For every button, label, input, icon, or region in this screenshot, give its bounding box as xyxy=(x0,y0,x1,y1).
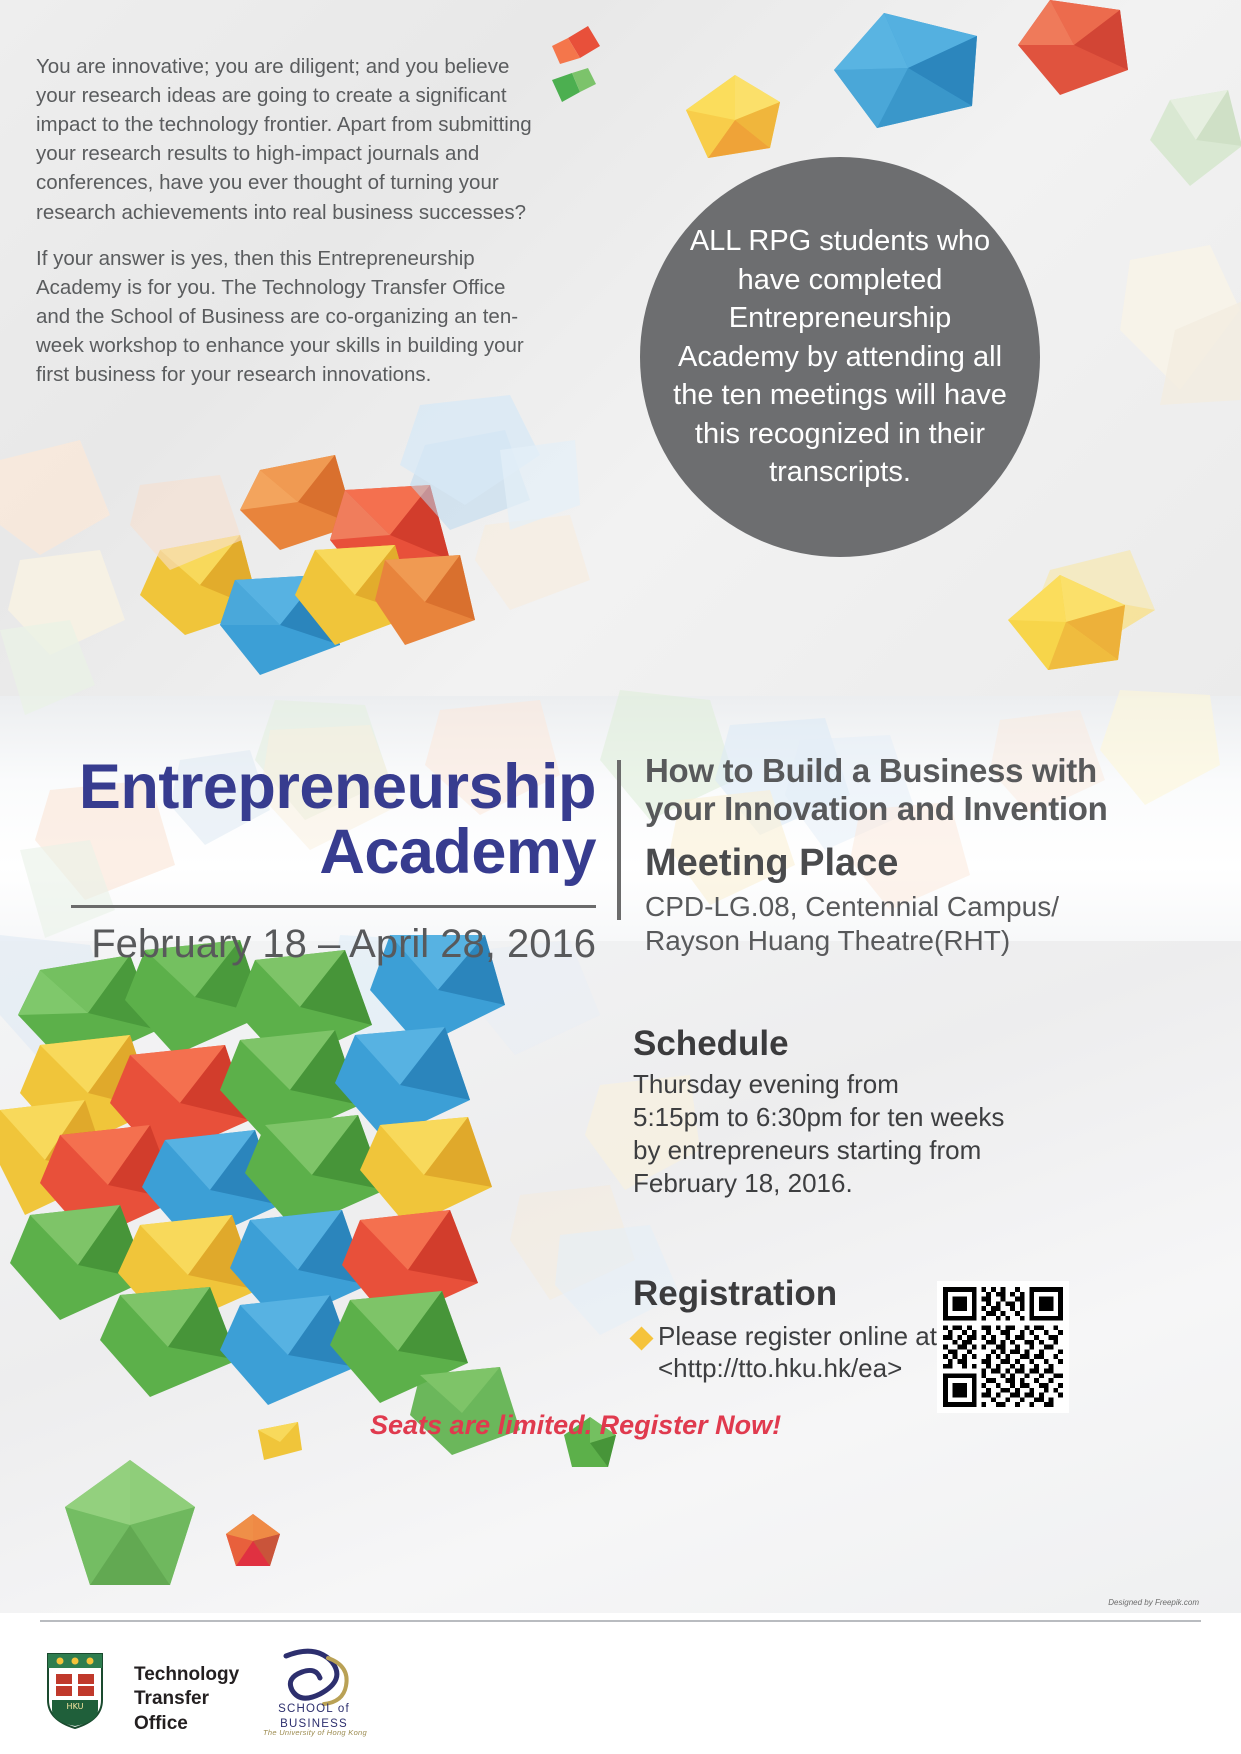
registration-section: Registration Please register online at <… xyxy=(633,1275,943,1385)
decor-polygon-yellow-solid-right xyxy=(1000,570,1130,680)
schedule-line4: February 18, 2016. xyxy=(633,1167,1083,1200)
date-range: February 18 – April 28, 2016 xyxy=(36,922,596,966)
meeting-place-line2: Rayson Huang Theatre(RHT) xyxy=(645,924,1205,958)
schedule-line1: Thursday evening from xyxy=(633,1068,1083,1101)
callout-text: ALL RPG students who have completed Entr… xyxy=(668,222,1013,492)
subtitle-line2: your Innovation and Invention xyxy=(645,790,1205,828)
tto-line2: Transfer xyxy=(134,1687,239,1711)
decor-polygon-cluster-bottom xyxy=(0,935,700,1455)
schedule-section: Schedule Thursday evening from 5:15pm to… xyxy=(633,1025,1083,1200)
schedule-line3: by entrepreneurs starting from xyxy=(633,1134,1083,1167)
diamond-bullet-icon xyxy=(629,1326,653,1350)
decor-polygon-pale-blue-mid xyxy=(380,395,580,535)
rpg-recognition-callout: ALL RPG students who have completed Entr… xyxy=(640,157,1040,557)
meeting-place-line1: CPD-LG.08, Centennial Campus/ xyxy=(645,890,1205,924)
schedule-heading: Schedule xyxy=(633,1025,1083,1064)
intro-paragraph-2: If your answer is yes, then this Entrepr… xyxy=(36,244,536,390)
school-of-business-subline: The University of Hong Kong xyxy=(250,1728,380,1737)
title-divider xyxy=(71,905,596,908)
sob-line1: SCHOOL of xyxy=(258,1702,370,1717)
decor-polygon-green-pentagon-footer xyxy=(60,1455,200,1595)
footer-divider xyxy=(40,1620,1201,1622)
intro-paragraph-1: You are innovative; you are diligent; an… xyxy=(36,52,536,227)
decor-polygon-yellow-small-footer xyxy=(250,1420,305,1465)
tto-line3: Office xyxy=(134,1712,239,1736)
svg-text:HKU: HKU xyxy=(67,1702,84,1711)
meeting-place-heading: Meeting Place xyxy=(645,843,1205,885)
poster-title-line2: Academy xyxy=(36,820,596,885)
event-details-block: How to Build a Business with your Innova… xyxy=(645,752,1205,959)
decor-polygon-red-topright xyxy=(1010,0,1130,120)
intro-copy: You are innovative; you are diligent; an… xyxy=(36,52,536,389)
hku-crest-logo: HKU xyxy=(44,1652,106,1730)
poster: You are innovative; you are diligent; an… xyxy=(0,0,1241,1754)
decor-polygon-pale-left xyxy=(0,430,200,720)
qr-code-icon xyxy=(943,1287,1063,1407)
tto-line1: Technology xyxy=(134,1663,239,1687)
registration-line1: Please register online at xyxy=(658,1321,937,1351)
poster-title-line1: Entrepreneurship xyxy=(36,755,596,820)
freepik-credit: Designed by Freepik.com xyxy=(1108,1598,1199,1607)
decor-polygon-blue-top xyxy=(822,8,997,143)
decor-polygon-pale-right xyxy=(1120,240,1241,410)
decor-polygon-green-topright xyxy=(1150,90,1241,200)
band-vertical-divider xyxy=(617,760,621,920)
schedule-line2: 5:15pm to 6:30pm for ten weeks xyxy=(633,1101,1083,1134)
tto-wordmark: Technology Transfer Office xyxy=(134,1663,239,1736)
decor-polygon-cluster-top-left xyxy=(540,18,650,128)
seats-limited-note: Seats are limited. Register Now! xyxy=(370,1410,781,1441)
title-block: Entrepreneurship Academy February 18 – A… xyxy=(36,755,596,966)
registration-qr-code[interactable] xyxy=(937,1281,1069,1413)
registration-heading: Registration xyxy=(633,1275,943,1314)
subtitle-line1: How to Build a Business with xyxy=(645,752,1205,790)
registration-url[interactable]: <http://tto.hku.hk/ea> xyxy=(658,1353,902,1383)
decor-polygon-red-pentagon-footer xyxy=(224,1512,282,1570)
